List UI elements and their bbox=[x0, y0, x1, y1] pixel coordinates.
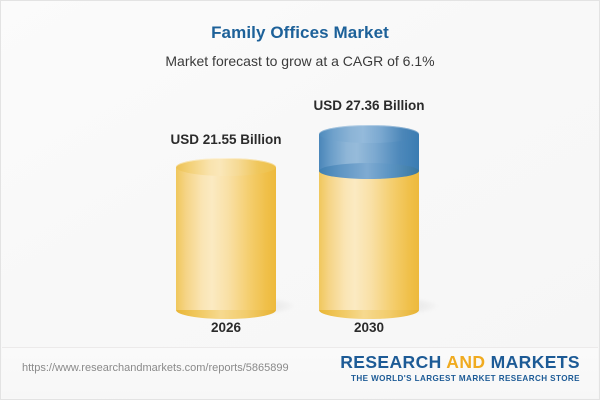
cylinder-segment-divider-ellipse bbox=[319, 163, 419, 179]
bar-segment-base-2030 bbox=[319, 171, 419, 310]
footer: https://www.researchandmarkets.com/repor… bbox=[2, 347, 598, 398]
cylinder-top-ellipse-2026 bbox=[176, 158, 276, 176]
bar-value-label-2030: USD 27.36 Billion bbox=[259, 98, 479, 113]
logo-text-research: RESEARCH bbox=[340, 352, 446, 372]
chart-card: Family Offices Market Market forecast to… bbox=[0, 0, 600, 400]
category-label-2030: 2030 bbox=[259, 320, 479, 335]
logo-tagline: THE WORLD'S LARGEST MARKET RESEARCH STOR… bbox=[340, 373, 580, 385]
cylinder-top-ellipse-2030 bbox=[319, 125, 419, 143]
bar-group-2030: USD 27.36 Billion 2030 bbox=[269, 1, 469, 349]
cylinder-body bbox=[176, 167, 276, 310]
research-and-markets-logo[interactable]: RESEARCH AND MARKETS THE WORLD'S LARGEST… bbox=[340, 353, 580, 385]
cylinder-body bbox=[319, 171, 419, 310]
bar-segment-base-2026 bbox=[176, 167, 276, 310]
cylinder-2030 bbox=[319, 125, 419, 310]
logo-text-markets: MARKETS bbox=[491, 352, 580, 372]
plot-area: USD 21.55 Billion 2026 USD 27.36 Billion bbox=[1, 1, 600, 349]
cylinder-2026 bbox=[176, 158, 276, 310]
logo-wordmark: RESEARCH AND MARKETS bbox=[340, 353, 580, 372]
report-url[interactable]: https://www.researchandmarkets.com/repor… bbox=[22, 362, 289, 374]
logo-text-and: AND bbox=[446, 352, 490, 372]
